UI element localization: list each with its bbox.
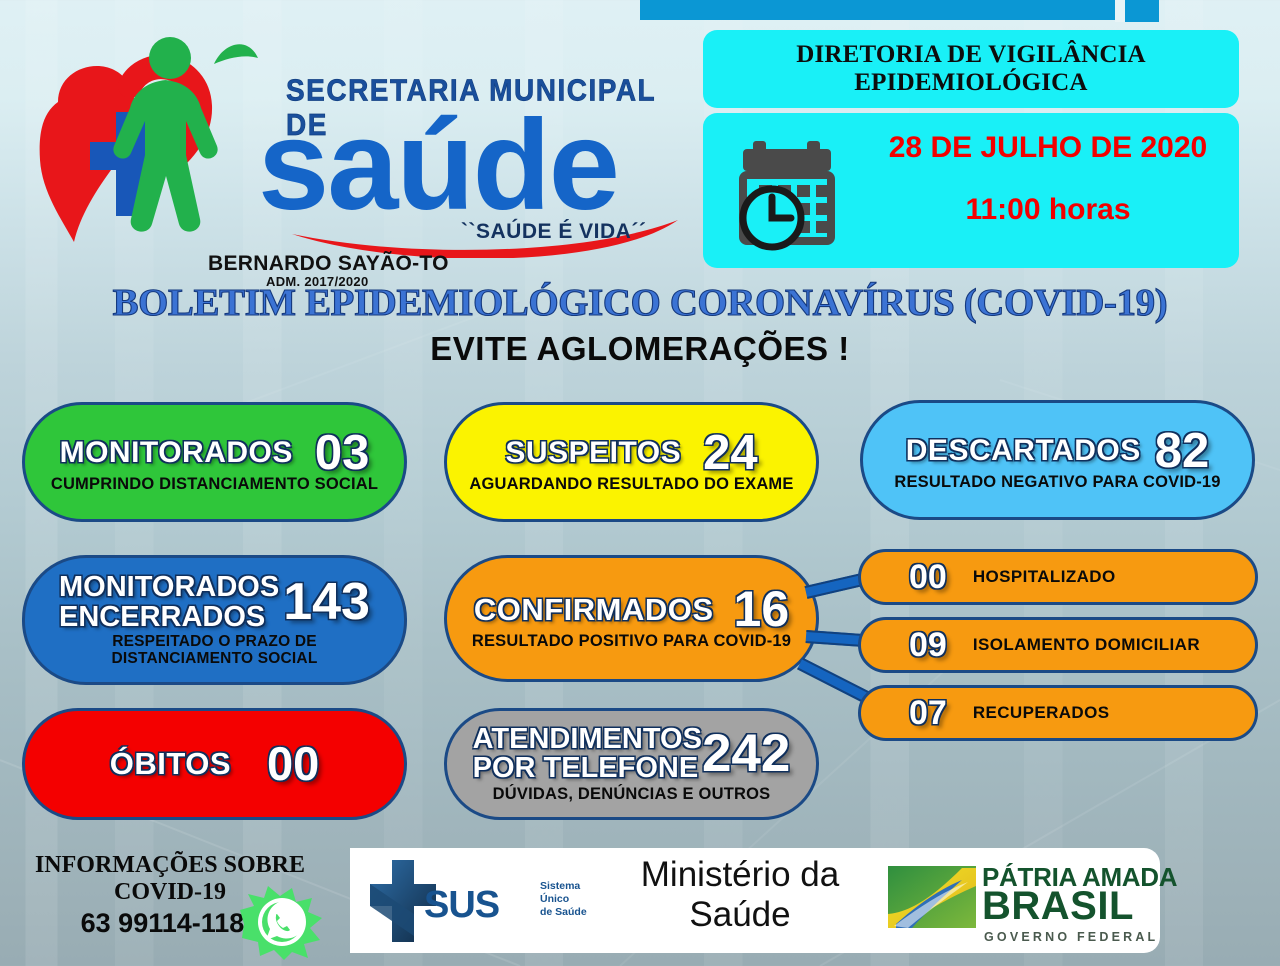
whatsapp-icon[interactable] [238,886,324,960]
card-value: 00 [267,742,319,787]
logo-city: BERNARDO SAYÃO-TO [208,252,449,276]
top-blue-strip [640,0,1115,20]
stat-card-monitorados-encerrados[interactable]: MONITORADOS ENCERRADOS 143 RESPEITADO O … [22,555,407,685]
calendar-clock-icon [739,135,857,253]
card-description: RESULTADO POSITIVO PARA COVID-19 [472,633,791,651]
card-label-line-2: POR TELEFONE [473,754,702,784]
breakdown-value: 09 [909,629,947,661]
date-time-box: 28 DE JULHO DE 2020 11:00 horas [703,113,1239,268]
directorate-box: DIRETORIA DE VIGILÂNCIA EPIDEMIOLÓGICA [703,30,1239,108]
breakdown-label: HOSPITALIZADO [973,567,1116,587]
card-description: RESULTADO NEGATIVO PARA COVID-19 [894,474,1220,492]
brasil-line-3: GOVERNO FEDERAL [984,930,1158,944]
stat-card-obitos[interactable]: ÓBITOS 00 [22,708,407,820]
top-strip-gap [1115,0,1125,22]
heart-person-cross-icon [18,24,278,274]
logo-slogan: ``SAÚDE É VIDA´´ [461,220,646,244]
breakdown-label: ISOLAMENTO DOMICILIAR [973,635,1200,655]
card-label: SUSPEITOS [505,436,681,470]
ministry-line-2: Saúde [600,895,880,935]
stat-card-confirmados[interactable]: CONFIRMADOS 16 RESULTADO POSITIVO PARA C… [444,555,819,682]
card-description-line-2: DISTANCIAMENTO SOCIAL [112,651,318,668]
card-value: 16 [734,586,790,634]
card-label: ÓBITOS [110,746,231,782]
sus-sub-3: de Saúde [540,906,587,919]
card-value: 242 [702,729,790,779]
ministry-line-1: Ministério da [600,855,880,895]
card-value: 82 [1155,428,1210,475]
sus-sub-1: Sistema [540,880,587,893]
directorate-line-1: DIRETORIA DE VIGILÂNCIA [796,41,1146,70]
card-description-line-1: RESPEITADO O PRAZO DE [112,634,318,651]
stat-card-atendimentos[interactable]: ATENDIMENTOS POR TELEFONE 242 DÚVIDAS, D… [444,708,819,820]
stat-card-monitorados[interactable]: MONITORADOS 03 CUMPRINDO DISTANCIAMENTO … [22,402,407,522]
card-label-line-1: MONITORADOS [59,572,279,602]
breakdown-hospitalizado[interactable]: 00 HOSPITALIZADO [858,549,1258,605]
contact-line-1: INFORMAÇÕES SOBRE [20,852,320,879]
breakdown-value: 07 [909,697,947,729]
secretaria-logo: SECRETARIA MUNICIPAL DE saúde ``SAÚDE É … [18,24,698,274]
card-description: AGUARDANDO RESULTADO DO EXAME [469,476,793,494]
brazil-flag-icon [888,866,976,928]
card-label: CONFIRMADOS [474,592,714,628]
sus-subtitle: Sistema Único de Saúde [540,880,587,919]
card-label-line-2: ENCERRADOS [59,602,279,632]
sus-acronym: SUS [424,884,499,927]
ministry-label: Ministério da Saúde [600,855,880,936]
stat-card-suspeitos[interactable]: SUSPEITOS 24 AGUARDANDO RESULTADO DO EXA… [444,402,819,522]
card-description: DÚVIDAS, DENÚNCIAS E OUTROS [493,786,771,804]
logo-saude-word: saúde [258,102,618,230]
breakdown-isolamento-domiciliar[interactable]: 09 ISOLAMENTO DOMICILIAR [858,617,1258,673]
card-label: MONITORADOS [60,436,293,470]
page-title: BOLETIM EPIDEMIOLÓGICO CORONAVÍRUS (COVI… [0,281,1280,325]
card-label: DESCARTADOS [906,434,1141,468]
card-label-line-1: ATENDIMENTOS [473,725,702,755]
card-value: 143 [283,578,370,627]
card-description: CUMPRINDO DISTANCIAMENTO SOCIAL [51,476,378,494]
stat-card-descartados[interactable]: DESCARTADOS 82 RESULTADO NEGATIVO PARA C… [860,400,1255,520]
breakdown-label: RECUPERADOS [973,703,1110,723]
card-value: 24 [703,430,758,477]
bulletin-time: 11:00 horas [863,193,1233,227]
bulletin-date: 28 DE JULHO DE 2020 [863,131,1233,165]
directorate-line-2: EPIDEMIOLÓGICA [854,69,1087,98]
breakdown-value: 00 [909,561,947,593]
brasil-line-2: BRASIL [982,886,1134,926]
page-subtitle: EVITE AGLOMERAÇÕES ! [0,330,1280,368]
breakdown-recuperados[interactable]: 07 RECUPERADOS [858,685,1258,741]
sus-sub-2: Único [540,893,587,906]
top-strip-right [1125,0,1159,22]
card-value: 03 [315,430,370,477]
